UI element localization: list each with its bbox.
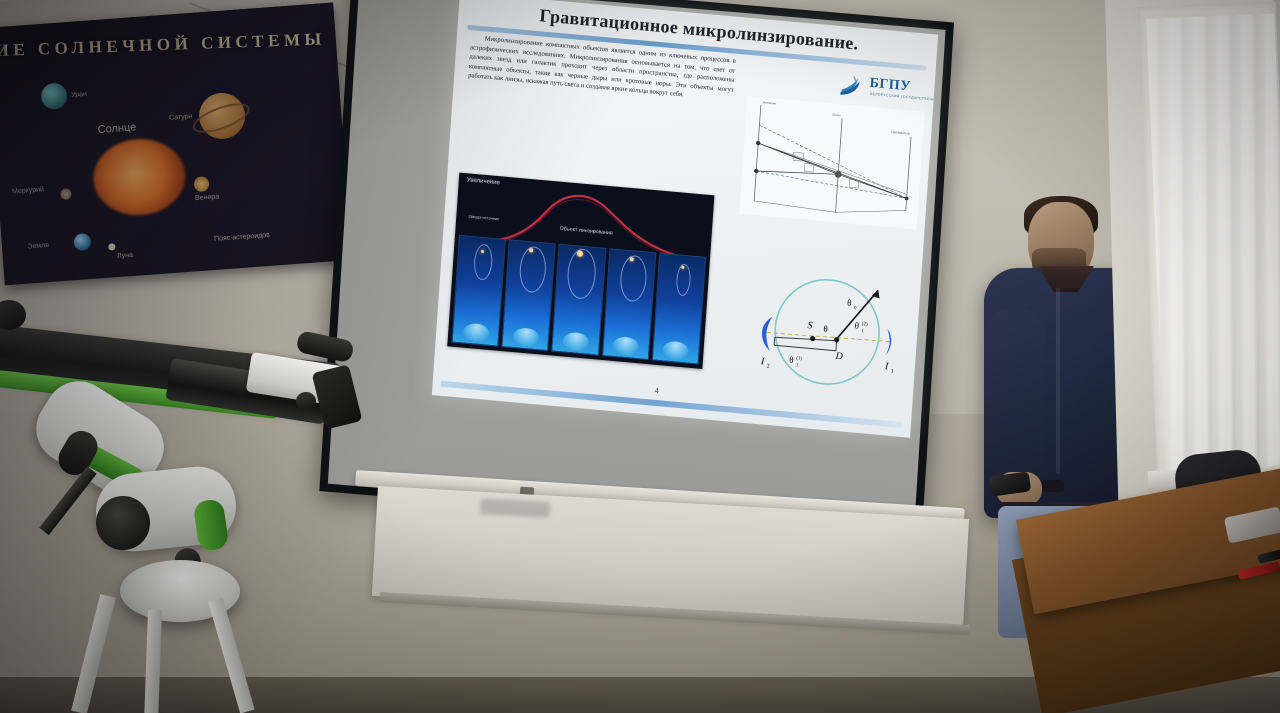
svg-text:θ: θ xyxy=(847,298,852,308)
ray-trace-diagram: Источник Линза Наблюдатель xyxy=(739,96,925,230)
poster-planet-earth xyxy=(73,233,91,251)
projected-slide: Гравитационное микролинзирование. Микрол… xyxy=(432,0,938,438)
poster-label-saturn: Сатурн xyxy=(169,113,193,122)
wave-feather-icon xyxy=(838,70,868,100)
poster-planet-venus xyxy=(193,176,209,192)
vertical-blinds[interactable] xyxy=(1146,14,1280,489)
poster-label-earth: Земля xyxy=(28,242,49,251)
svg-text:I: I xyxy=(884,361,890,372)
blinds-daylight-glow xyxy=(1146,14,1280,489)
slide-page-number: 4 xyxy=(654,386,659,395)
panel-bulb xyxy=(462,323,489,343)
poster-label-sun: Солнце xyxy=(97,121,136,136)
slide-body-text: Микролинзирование компактных объектов яв… xyxy=(468,33,736,105)
panel-bulb xyxy=(562,331,589,351)
poster-planet-mercury xyxy=(60,188,72,200)
panel-arc xyxy=(518,245,547,293)
einstein-ring-diagram: S D θ θ 0 θ (2) 1 θ (1) 1 I 2 I 1 xyxy=(737,262,915,401)
lightcurve-stage-panels xyxy=(452,235,707,365)
svg-text:I: I xyxy=(760,356,766,367)
panel-arc xyxy=(675,263,691,296)
presenter-shirt-placket xyxy=(1056,288,1060,474)
svg-text:1: 1 xyxy=(861,329,864,334)
panel-arc xyxy=(566,248,597,300)
svg-text:1: 1 xyxy=(890,369,893,375)
svg-text:S: S xyxy=(807,320,813,331)
stage-panel xyxy=(552,244,607,356)
svg-text:(1): (1) xyxy=(796,356,802,362)
poster-label-uranus: Уран xyxy=(71,91,87,99)
panel-arc xyxy=(618,254,647,302)
microlensing-lightcurve-figure: Увеличение Объект линзирования Звезда-ис… xyxy=(447,173,714,369)
poster-label-mercury: Меркурий xyxy=(12,186,44,195)
panel-bulb xyxy=(662,340,689,360)
poster-label-asteroid-belt: Пояс астероидов xyxy=(214,232,270,243)
panel-bulb xyxy=(612,336,639,356)
poster-sun xyxy=(91,136,188,219)
mount-counterweight xyxy=(96,496,150,550)
svg-text:θ: θ xyxy=(789,355,794,365)
svg-text:Линза: Линза xyxy=(832,113,841,118)
svg-text:(2): (2) xyxy=(862,322,868,328)
presenter-watch xyxy=(1042,480,1064,492)
stage-panel xyxy=(502,239,557,351)
solar-system-poster: НИЕ СОЛНЕЧНОЙ СИСТЕМЫ Уран Сатурн Солнце… xyxy=(0,3,352,286)
poster-title: НИЕ СОЛНЕЧНОЙ СИСТЕМЫ xyxy=(0,29,348,62)
svg-text:Наблюдатель: Наблюдатель xyxy=(891,130,911,136)
stage-panel xyxy=(602,248,657,360)
poster-label-moon: Луна xyxy=(117,252,133,260)
poster-planet-uranus xyxy=(40,82,68,110)
svg-text:θ: θ xyxy=(823,324,828,334)
poster-label-venus: Венера xyxy=(195,193,220,202)
svg-text:0: 0 xyxy=(854,306,857,311)
logo-subtitle: БЕЛОРУССКИЙ ГОСУДАРСТВЕННЫЙ ПЕДАГОГИЧЕСК… xyxy=(870,92,938,109)
svg-text:2: 2 xyxy=(766,364,769,370)
lecture-room-scene: НИЕ СОЛНЕЧНОЙ СИСТЕМЫ Уран Сатурн Солнце… xyxy=(0,0,1280,713)
poster-moon xyxy=(108,243,115,250)
telescope-focus-knob[interactable] xyxy=(296,392,316,410)
panel-arc xyxy=(473,243,493,281)
stage-panel xyxy=(652,253,707,365)
svg-text:θ: θ xyxy=(854,320,859,330)
svg-text:Источник: Источник xyxy=(763,100,777,105)
stage-panel xyxy=(452,235,507,347)
svg-text:D: D xyxy=(834,351,844,363)
svg-text:1: 1 xyxy=(796,363,799,368)
panel-bulb xyxy=(512,327,539,347)
